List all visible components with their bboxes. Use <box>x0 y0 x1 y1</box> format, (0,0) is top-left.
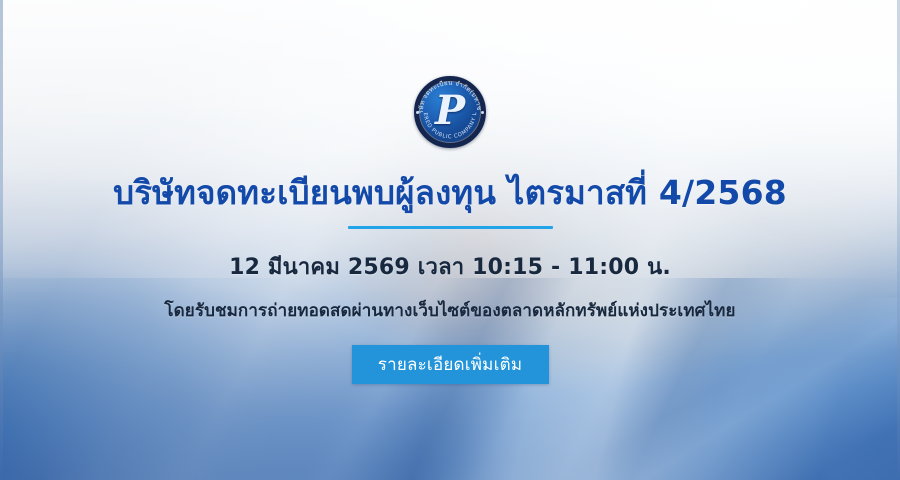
banner-content: บริษัท จดทะเบียน จำกัด(มหาชน) REGISTERED… <box>0 0 900 480</box>
company-seal-logo: บริษัท จดทะเบียน จำกัด(มหาชน) REGISTERED… <box>414 76 486 148</box>
page-title: บริษัทจดทะเบียนพบผู้ลงทุน ไตรมาสที่ 4/25… <box>113 174 787 212</box>
event-description: โดยรับชมการถ่ายทอดสดผ่านทางเว็บไซต์ของตล… <box>164 297 735 324</box>
investor-meeting-banner: บริษัท จดทะเบียน จำกัด(มหาชน) REGISTERED… <box>0 0 900 480</box>
more-details-button[interactable]: รายละเอียดเพิ่มเติม <box>352 345 549 384</box>
title-divider <box>348 226 553 229</box>
seal-monogram: P <box>414 76 486 148</box>
event-datetime: 12 มีนาคม 2569 เวลา 10:15 - 11:00 น. <box>229 249 671 284</box>
